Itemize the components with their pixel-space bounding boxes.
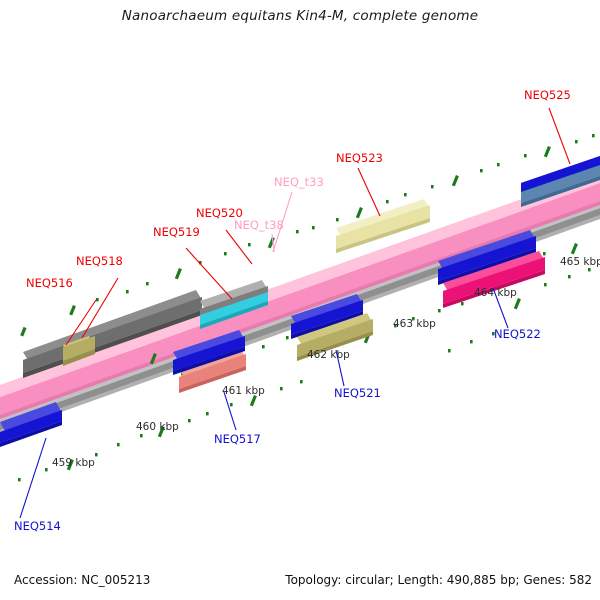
gene-label-NEQ_t38: NEQ_t38 <box>234 218 284 232</box>
axis-tick-label: 465 kbp <box>560 256 600 268</box>
gene-label-NEQ519: NEQ519 <box>153 225 200 239</box>
gene-label-NEQ521: NEQ521 <box>334 386 381 400</box>
genome-stats-text: Topology: circular; Length: 490,885 bp; … <box>285 573 592 587</box>
gene-label-NEQ523: NEQ523 <box>336 151 383 165</box>
genome-map-viewer: Nanoarchaeum equitans Kin4-M, complete g… <box>0 0 600 600</box>
axis-tick-label: 461 kbp <box>222 385 265 397</box>
axis-tick-label: 463 kbp <box>393 318 436 330</box>
leader-NEQ520 <box>226 230 252 264</box>
axis-tick-label: 464 kbp <box>474 287 517 299</box>
axis-tick-label: 460 kbp <box>136 421 179 433</box>
gene-label-NEQ516: NEQ516 <box>26 276 73 290</box>
status-bar: Accession: NC_005213 Topology: circular;… <box>0 565 600 600</box>
accession-text: Accession: NC_005213 <box>14 573 150 587</box>
axis-tick-label: 462 kbp <box>307 349 350 361</box>
leader-NEQ525 <box>549 108 570 164</box>
gene-label-NEQ517: NEQ517 <box>214 432 261 446</box>
gene-label-NEQ518: NEQ518 <box>76 254 123 268</box>
gene-label-NEQ525: NEQ525 <box>524 88 571 102</box>
gene-label-NEQ522: NEQ522 <box>494 327 541 341</box>
genome-backbone <box>0 171 600 600</box>
gene-label-NEQ_t33: NEQ_t33 <box>274 175 324 189</box>
axis-tick-label: 459 kbp <box>52 457 95 469</box>
gene-label-NEQ514: NEQ514 <box>14 519 61 533</box>
genome-map-canvas[interactable]: 459 kbp 460 kbp 461 kbp 462 kbp 463 kbp … <box>0 0 600 600</box>
